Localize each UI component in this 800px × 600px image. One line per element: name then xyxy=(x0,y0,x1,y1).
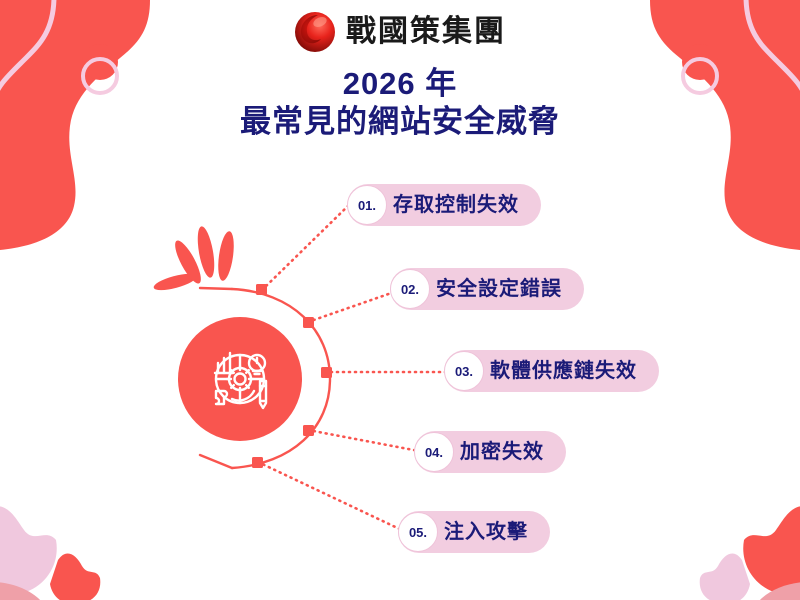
threat-number-3: 03. xyxy=(455,365,473,378)
title-year: 2026 年 xyxy=(0,66,800,103)
threat-label-4: 加密失效 xyxy=(460,442,544,462)
hub-arc-tail-top xyxy=(200,288,232,289)
page-title: 2026 年 最常見的網站安全威脅 xyxy=(0,66,800,140)
threat-number-1: 01. xyxy=(358,199,376,212)
threat-item-1[interactable]: 存取控制失效 01. xyxy=(347,184,541,226)
infographic-canvas: 戰國策集團 2026 年 最常見的網站安全威脅 xyxy=(0,0,800,600)
center-hub xyxy=(178,317,302,441)
threat-badge-1: 01. xyxy=(347,185,387,225)
header: 戰國策集團 2026 年 最常見的網站安全威脅 xyxy=(0,8,800,140)
threat-label-2: 安全設定錯誤 xyxy=(436,279,562,299)
security-strategy-icon xyxy=(202,341,278,417)
threat-item-2[interactable]: 安全設定錯誤 02. xyxy=(390,268,584,310)
threat-item-4[interactable]: 加密失效 04. xyxy=(414,431,566,473)
threat-badge-3: 03. xyxy=(444,351,484,391)
hub-arc-tail-bottom xyxy=(200,455,232,468)
threat-badge-4: 04. xyxy=(414,432,454,472)
brand-logo: 戰國策集團 xyxy=(0,8,800,56)
arc-node-4 xyxy=(303,425,314,436)
leader-line-5 xyxy=(258,462,408,533)
red-sphere-logo-icon xyxy=(294,11,336,53)
threat-label-5: 注入攻擊 xyxy=(444,522,528,542)
brand-name: 戰國策集團 xyxy=(346,17,506,47)
threat-badge-2: 02. xyxy=(390,269,430,309)
title-subject: 最常見的網站安全威脅 xyxy=(0,103,800,141)
arc-node-3 xyxy=(321,367,332,378)
threat-number-2: 02. xyxy=(401,283,419,296)
leader-line-4 xyxy=(308,430,424,452)
threat-item-3[interactable]: 軟體供應鏈失效 03. xyxy=(444,350,659,392)
leader-line-2 xyxy=(308,290,400,322)
threat-label-1: 存取控制失效 xyxy=(393,195,519,215)
leader-line-1 xyxy=(262,204,350,290)
threat-number-4: 04. xyxy=(425,446,443,459)
threat-item-5[interactable]: 注入攻擊 05. xyxy=(398,511,550,553)
arc-node-2 xyxy=(303,317,314,328)
threat-label-3: 軟體供應鏈失效 xyxy=(490,361,637,381)
arc-node-1 xyxy=(256,284,267,295)
threat-badge-5: 05. xyxy=(398,512,438,552)
threat-number-5: 05. xyxy=(409,526,427,539)
arc-node-5 xyxy=(252,457,263,468)
